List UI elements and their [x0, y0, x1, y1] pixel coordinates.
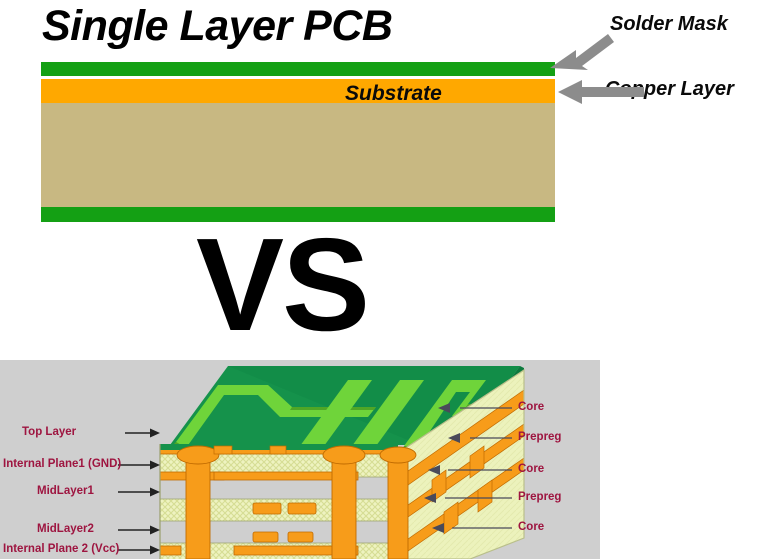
- label-mid-layer-1: MidLayer1: [37, 485, 94, 497]
- label-mid-layer-2: MidLayer2: [37, 523, 94, 535]
- pcb-comparison-diagram: Single Layer PCB Substrate Solder Mask C…: [0, 0, 780, 559]
- label-prepreg-1: Prepreg: [518, 431, 561, 443]
- label-core-2: Core: [518, 463, 544, 475]
- single-layer-substrate: [41, 103, 555, 207]
- page-title: Single Layer PCB: [42, 2, 392, 51]
- label-core-3: Core: [518, 521, 544, 533]
- single-layer-pcb-stack: [41, 62, 555, 222]
- single-layer-copper-layer: [41, 79, 555, 103]
- copper-layer-arrow-icon: [556, 78, 648, 106]
- label-top-layer: Top Layer: [22, 426, 76, 438]
- multilayer-pcb-panel: Top Layer Internal Plane1 (GND) MidLayer…: [0, 360, 600, 559]
- label-internal-plane-1: Internal Plane1 (GND): [3, 458, 121, 470]
- left-callout-arrowheads: [150, 429, 160, 555]
- substrate-label: Substrate: [345, 82, 442, 106]
- label-core-1: Core: [518, 401, 544, 413]
- label-internal-plane-2: Internal Plane 2 (Vcc): [3, 543, 119, 555]
- versus-text: VS: [196, 219, 368, 351]
- left-callout-arrows: [118, 433, 155, 550]
- label-prepreg-2: Prepreg: [518, 491, 561, 503]
- solder-mask-arrow-icon: [548, 20, 658, 75]
- single-layer-solder-mask-top: [41, 62, 555, 76]
